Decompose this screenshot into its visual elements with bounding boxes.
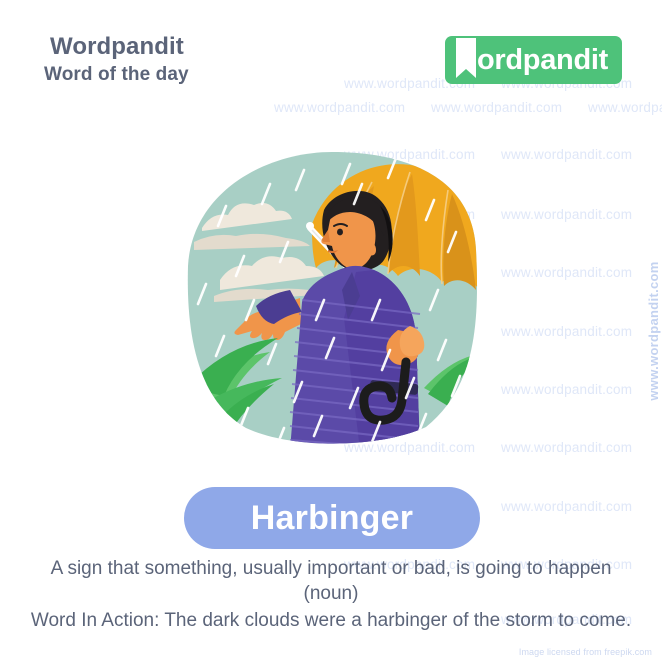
watermark-text: www.wordpandit.com (501, 265, 632, 280)
wordpandit-logo[interactable]: ordpandit (445, 36, 622, 84)
watermark-text: www.wordpandit.com (501, 440, 632, 455)
watermark-text: www.wordpandit.com (431, 100, 562, 115)
image-credit: Image licensed from freepik.com (519, 647, 652, 657)
watermark-text: www.wordpandit.com (30, 324, 161, 339)
watermark-text: www.wordpandit.com (117, 100, 248, 115)
page-subtitle: Word of the day (44, 62, 189, 88)
watermark-text: www.wordpandit.com (501, 499, 632, 514)
watermark-text: www.wordpandit.com (30, 499, 161, 514)
watermark-text: www.wordpandit.com (501, 382, 632, 397)
watermark-text: www.wordpandit.com (501, 207, 632, 222)
watermark-text: www.wordpandit.com (501, 147, 632, 162)
watermark-text: www.wordpandit.com (30, 207, 161, 222)
header: Wordpandit Word of the day (44, 34, 189, 88)
watermark-text: www.wordpandit.com (501, 324, 632, 339)
illustration-scene (184, 150, 480, 450)
watermark-text: www.wordpandit.com (187, 76, 318, 91)
watermark-text: www.wordpandit.com (30, 440, 161, 455)
definition-meaning: A sign that something, usually important… (14, 556, 648, 581)
watermark-text: www.wordpandit.com (588, 100, 662, 115)
illustration-svg (184, 150, 480, 450)
word-in-action: Word In Action: The dark clouds were a h… (14, 608, 648, 633)
bookmark-icon (453, 36, 479, 84)
watermark-text: www.wordpandit.com (30, 265, 161, 280)
side-watermark-text: www.wordpandit.com (646, 261, 661, 400)
watermark-text: www.wordpandit.com (0, 100, 91, 115)
word-badge[interactable]: Harbinger (184, 487, 480, 549)
word-illustration (184, 150, 480, 450)
definition-block: A sign that something, usually important… (0, 556, 662, 633)
word-of-the-day-card: www.wordpandit.com www.wordpandit.com ww… (0, 0, 662, 662)
word-term: Harbinger (251, 501, 413, 535)
watermark-text: www.wordpandit.com (30, 382, 161, 397)
watermark-text: www.wordpandit.com (274, 100, 405, 115)
logo-text: ordpandit (477, 46, 608, 75)
part-of-speech: (noun) (14, 581, 648, 606)
brand-title: Wordpandit (50, 34, 189, 59)
watermark-text: www.wordpandit.com (30, 147, 161, 162)
